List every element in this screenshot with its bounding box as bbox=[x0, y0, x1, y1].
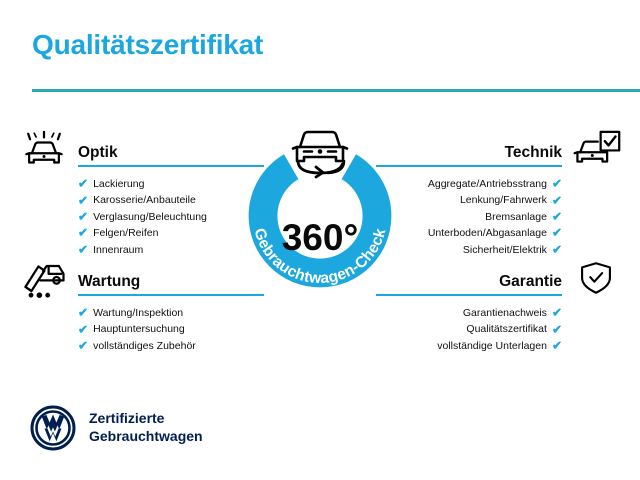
section-wartung: Wartung ✔ Wartung/Inspektion ✔ Hauptunte… bbox=[14, 262, 264, 354]
check-icon: ✔ bbox=[78, 211, 88, 223]
list-item-label: vollständige Unterlagen bbox=[437, 338, 547, 354]
list-item-label: Unterboden/Abgasanlage bbox=[428, 225, 547, 241]
footer-brand-line2: Gebrauchtwagen bbox=[89, 428, 203, 444]
check-icon: ✔ bbox=[552, 243, 562, 255]
list-item-label: Lenkung/Fahrwerk bbox=[460, 192, 547, 208]
section-optik-header: Optik bbox=[14, 133, 264, 167]
list-item-label: Bremsanlage bbox=[485, 209, 547, 225]
section-technik: Technik Aggregate/Antriebsstrang ✔ Lenku… bbox=[376, 133, 626, 258]
check-icon: ✔ bbox=[78, 340, 88, 352]
check-icon: ✔ bbox=[552, 227, 562, 239]
360-check-badge: 360° Gebrauchtwagen-Check bbox=[232, 120, 408, 310]
check-icon: ✔ bbox=[552, 323, 562, 335]
list-item: vollständige Unterlagen ✔ bbox=[376, 338, 562, 354]
list-item-label: Hauptuntersuchung bbox=[93, 321, 185, 337]
footer-brand-lockup: Zertifizierte Gebrauchtwagen bbox=[30, 405, 203, 451]
section-garantie-header: Garantie bbox=[376, 262, 626, 296]
section-wartung-header: Wartung bbox=[14, 262, 264, 296]
list-item-label: Sicherheit/Elektrik bbox=[463, 242, 547, 258]
check-icon: ✔ bbox=[552, 211, 562, 223]
list-item-label: vollständiges Zubehör bbox=[93, 338, 196, 354]
footer-brand-text: Zertifizierte Gebrauchtwagen bbox=[89, 410, 203, 446]
check-icon: ✔ bbox=[78, 178, 88, 190]
car-shine-icon bbox=[16, 127, 72, 171]
car-rotate-icon bbox=[282, 120, 358, 182]
check-icon: ✔ bbox=[78, 243, 88, 255]
service-pen-car-icon bbox=[16, 256, 72, 300]
footer-brand-line1: Zertifizierte bbox=[89, 410, 164, 426]
check-icon: ✔ bbox=[552, 178, 562, 190]
list-item-label: Garantienachweis bbox=[463, 305, 547, 321]
section-wartung-list: ✔ Wartung/Inspektion ✔ Hauptuntersuchung… bbox=[14, 305, 264, 354]
section-optik: Optik ✔ Lackierung ✔ Karosserie/Anbautei… bbox=[14, 133, 264, 258]
page-title: Qualitätszertifikat bbox=[32, 30, 632, 61]
header-divider bbox=[32, 89, 640, 92]
list-item: ✔ Hauptuntersuchung bbox=[78, 321, 264, 337]
list-item-label: Qualitätszertifikat bbox=[466, 321, 547, 337]
check-icon: ✔ bbox=[78, 323, 88, 335]
certificate-page: Qualitätszertifikat Optik bbox=[0, 0, 640, 480]
list-item-label: Innenraum bbox=[93, 242, 143, 258]
list-item-label: Lackierung bbox=[93, 176, 144, 192]
page-header: Qualitätszertifikat bbox=[32, 30, 632, 61]
check-icon: ✔ bbox=[552, 340, 562, 352]
check-icon: ✔ bbox=[78, 307, 88, 319]
badge-center-label: 360° bbox=[282, 217, 359, 258]
list-item-label: Karosserie/Anbauteile bbox=[93, 192, 196, 208]
list-item-label: Wartung/Inspektion bbox=[93, 305, 183, 321]
volkswagen-logo bbox=[30, 405, 76, 451]
check-icon: ✔ bbox=[552, 194, 562, 206]
section-technik-header: Technik bbox=[376, 133, 626, 167]
shield-check-icon bbox=[568, 256, 624, 300]
list-item-label: Felgen/Reifen bbox=[93, 225, 158, 241]
section-garantie: Garantie Garantienachweis ✔ Qualitätszer… bbox=[376, 262, 626, 354]
section-optik-list: ✔ Lackierung ✔ Karosserie/Anbauteile ✔ V… bbox=[14, 176, 264, 258]
car-checkbox-icon bbox=[568, 127, 624, 171]
check-icon: ✔ bbox=[552, 307, 562, 319]
section-garantie-list: Garantienachweis ✔ Qualitätszertifikat ✔… bbox=[376, 305, 626, 354]
list-item-label: Aggregate/Antriebsstrang bbox=[428, 176, 547, 192]
section-technik-list: Aggregate/Antriebsstrang ✔ Lenkung/Fahrw… bbox=[376, 176, 626, 258]
check-icon: ✔ bbox=[78, 227, 88, 239]
check-icon: ✔ bbox=[78, 194, 88, 206]
list-item-label: Verglasung/Beleuchtung bbox=[93, 209, 207, 225]
list-item: ✔ vollständiges Zubehör bbox=[78, 338, 264, 354]
list-item: Qualitätszertifikat ✔ bbox=[376, 321, 562, 337]
